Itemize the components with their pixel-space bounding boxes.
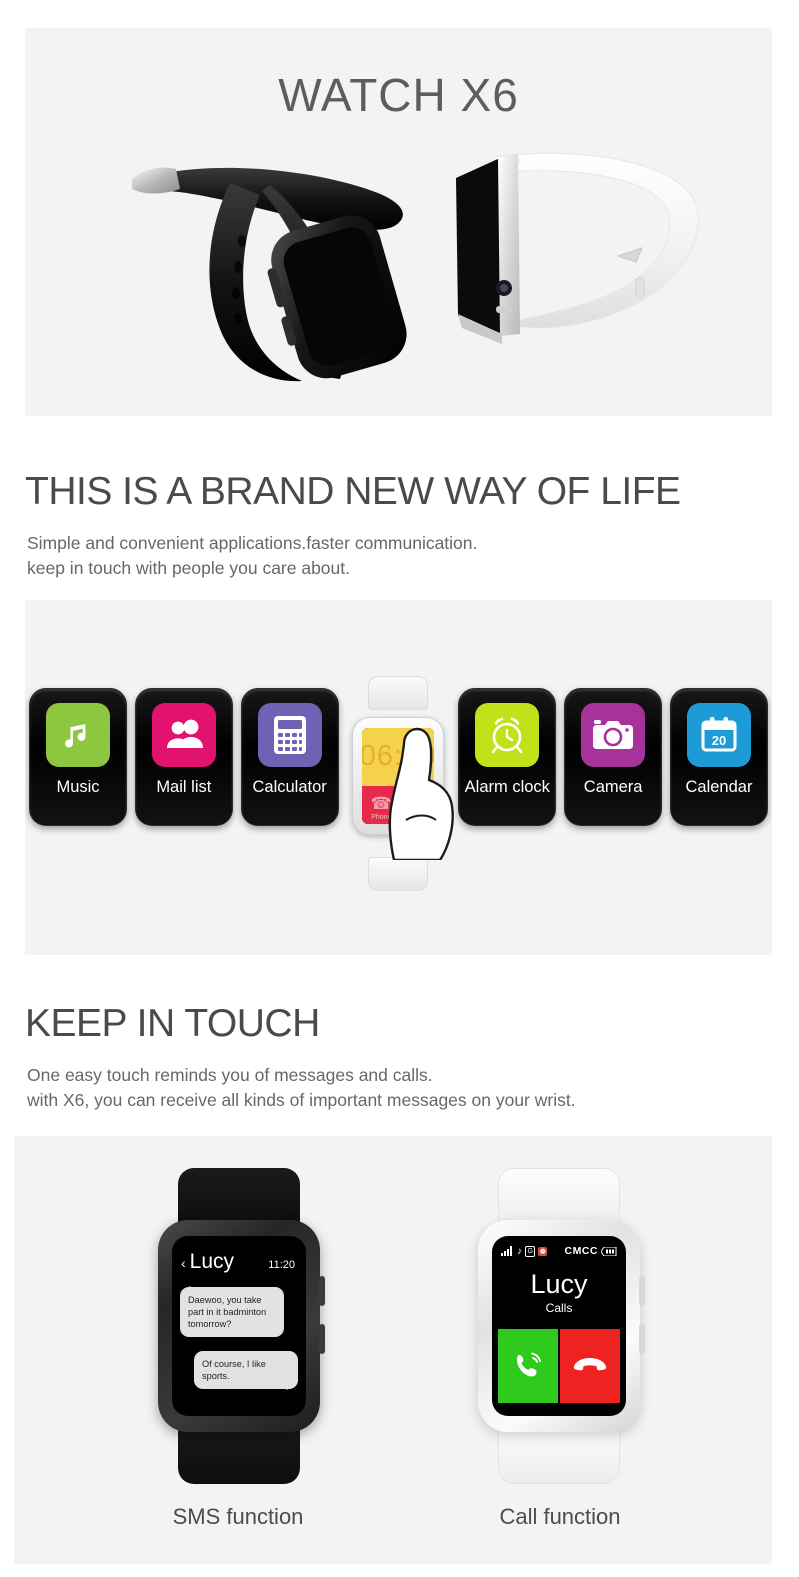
app-tile-calendar[interactable]: 20 Calendar <box>670 688 768 826</box>
side-button-top[interactable] <box>639 1276 645 1306</box>
app-tile-alarm-clock[interactable]: Alarm clock <box>458 688 556 826</box>
phone-accept-icon <box>513 1352 543 1380</box>
subtitle-line-2: keep in touch with people you care about… <box>27 556 477 581</box>
sms-watch-unit: ‹ Lucy 11:20 Daewoo, you take part in it… <box>124 1168 354 1498</box>
back-chevron-icon[interactable]: ‹ <box>181 1255 186 1271</box>
call-action-row <box>492 1329 626 1403</box>
app-label: Mail list <box>156 778 211 797</box>
section-heading-touch: KEEP IN TOUCH <box>25 1002 320 1046</box>
sms-header: ‹ Lucy 11:20 <box>172 1236 306 1274</box>
watch-touch-demo[interactable]: 06:20 ☎ Phone <box>346 688 450 863</box>
call-screen: ♪ G ⏰ CMCC Lucy Calls <box>492 1236 626 1416</box>
phone-handset-icon: ☎ <box>370 794 391 814</box>
decline-call-button[interactable] <box>560 1329 620 1403</box>
hero-panel: WATCH X6 <box>25 28 772 416</box>
section-subtitle-brand: Simple and convenient applications.faste… <box>27 531 477 581</box>
battery-icon <box>601 1247 617 1256</box>
app-label: Music <box>56 778 99 797</box>
app-tile-music[interactable]: Music <box>29 688 127 826</box>
product-detail-page: WATCH X6 <box>0 0 799 1577</box>
section-heading-brand: THIS IS A BRAND NEW WAY OF LIFE <box>25 470 681 514</box>
status-bar: ♪ G ⏰ CMCC <box>492 1236 626 1257</box>
app-tile-calculator[interactable]: Calculator <box>241 688 339 826</box>
side-button-bottom[interactable] <box>319 1324 325 1354</box>
carrier-label: CMCC <box>565 1245 599 1257</box>
app-label: Alarm clock <box>465 778 550 797</box>
phone-tile-label: Phone <box>366 814 396 821</box>
side-button-top[interactable] <box>319 1276 325 1306</box>
watch-black-product-photo <box>110 133 430 398</box>
functions-panel: ‹ Lucy 11:20 Daewoo, you take part in it… <box>14 1136 772 1564</box>
call-watch-unit: ♪ G ⏰ CMCC Lucy Calls <box>444 1168 674 1498</box>
page-title: WATCH X6 <box>25 68 772 122</box>
camera-icon <box>581 703 645 767</box>
app-label: Calendar <box>685 778 752 797</box>
alarm-clock-icon <box>475 703 539 767</box>
watch-body-white: ♪ G ⏰ CMCC Lucy Calls <box>478 1220 640 1432</box>
clock-digits: 06:20 <box>362 728 434 786</box>
sms-screen: ‹ Lucy 11:20 Daewoo, you take part in it… <box>172 1236 306 1416</box>
watch-strap-top <box>368 676 428 710</box>
calendar-icon: 20 <box>687 703 751 767</box>
caller-name: Lucy <box>492 1269 626 1300</box>
call-caption: Call function <box>410 1504 710 1530</box>
signal-bars-icon <box>501 1246 514 1256</box>
app-label: Camera <box>584 778 643 797</box>
watch-white-product-photo <box>440 138 730 368</box>
subtitle-line-2: with X6, you can receive all kinds of im… <box>27 1088 576 1113</box>
phone-decline-icon <box>573 1354 607 1378</box>
message-bubble-outgoing: Of course, I like sports. <box>194 1351 298 1389</box>
alarm-badge-icon: ⏰ <box>538 1247 547 1256</box>
watch-shortcut-row: ☎ Phone <box>362 786 434 824</box>
contacts-icon <box>152 703 216 767</box>
watch-body: 06:20 ☎ Phone <box>352 717 444 835</box>
calendar-day-number: 20 <box>712 733 726 748</box>
accept-call-button[interactable] <box>498 1329 558 1403</box>
clock-face-tile[interactable]: 06:20 <box>362 728 434 786</box>
watch-screen: 06:20 ☎ Phone <box>362 728 434 824</box>
calculator-icon <box>258 703 322 767</box>
subtitle-line-1: Simple and convenient applications.faste… <box>27 531 477 556</box>
gprs-g-icon: G <box>525 1246 535 1257</box>
music-note-icon <box>46 703 110 767</box>
watch-body-black: ‹ Lucy 11:20 Daewoo, you take part in it… <box>158 1220 320 1432</box>
phone-tile[interactable]: ☎ Phone <box>362 786 400 824</box>
call-state-label: Calls <box>492 1301 626 1315</box>
app-tile-camera[interactable]: Camera <box>564 688 662 826</box>
app-tile-mail-list[interactable]: Mail list <box>135 688 233 826</box>
sms-caption: SMS function <box>88 1504 388 1530</box>
subtitle-line-1: One easy touch reminds you of messages a… <box>27 1063 576 1088</box>
side-button-bottom[interactable] <box>639 1324 645 1354</box>
watch-strap-bottom <box>368 857 428 891</box>
sms-time: 11:20 <box>268 1259 295 1271</box>
message-bubble-incoming: Daewoo, you take part in it badminton to… <box>180 1287 284 1337</box>
music-note-icon: ♪ <box>517 1246 522 1257</box>
app-tile-row: Music Mail list <box>25 688 772 863</box>
green-tile[interactable] <box>400 786 434 824</box>
section-subtitle-touch: One easy touch reminds you of messages a… <box>27 1063 576 1113</box>
app-icons-panel: Music Mail list <box>25 600 772 955</box>
sms-contact-name: Lucy <box>190 1250 269 1274</box>
app-label: Calculator <box>253 778 327 797</box>
